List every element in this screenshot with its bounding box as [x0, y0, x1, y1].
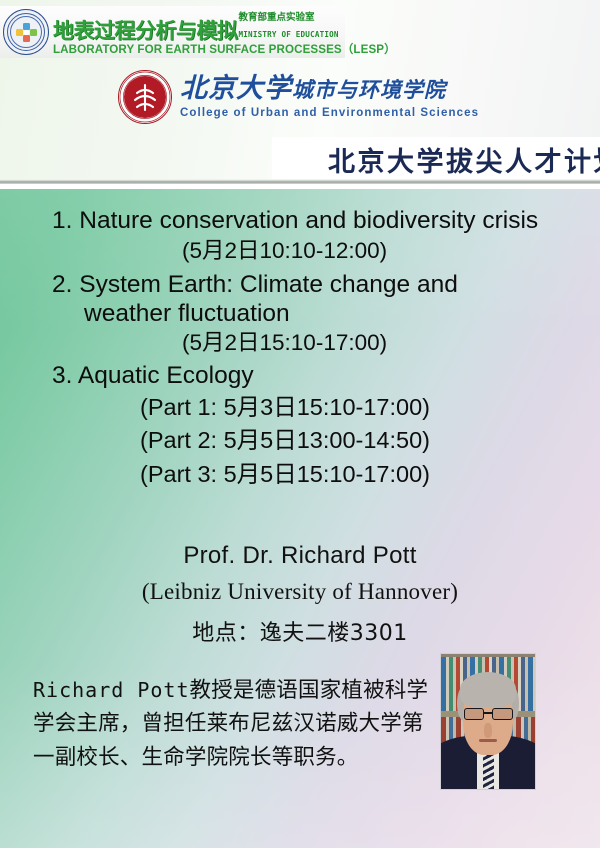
speaker-biography: Richard Pott教授是德语国家植被科学学会主席，曾担任莱布尼兹汉诺威大学… — [33, 674, 433, 774]
lecture-item: 2. System Earth: Climate change and weat… — [0, 271, 600, 358]
lecture-item: 3. Aquatic Ecology (Part 1: 5月3日15:10-17… — [0, 362, 600, 491]
lesp-moe-chinese: 教育部重点实验室 — [239, 12, 315, 23]
lecture-time: (5月2日10:10-12:00) — [182, 236, 600, 265]
lesp-logo-band: 地表过程分析与模拟 教育部重点实验室 MINISTRY OF EDUCATION… — [0, 6, 345, 58]
college-chinese-name: 北京大学城市与环境学院 — [180, 75, 479, 103]
lecture-number: 2. — [52, 271, 72, 298]
lecture-title: Nature conservation and biodiversity cri… — [79, 207, 538, 234]
poster-header: 地表过程分析与模拟 教育部重点实验室 MINISTRY OF EDUCATION… — [0, 0, 600, 184]
poster-canvas: 地表过程分析与模拟 教育部重点实验室 MINISTRY OF EDUCATION… — [0, 0, 600, 848]
lecture-title-line: 2. System Earth: Climate change and — [52, 271, 600, 300]
speaker-name: Prof. Dr. Richard Pott — [0, 542, 600, 570]
venue-label: 地点：逸夫二楼3301 — [0, 615, 600, 647]
lecture-title-line: 1. Nature conservation and biodiversity … — [52, 207, 600, 236]
program-title-bar: 北京大学拔尖人才计划 — [272, 137, 600, 179]
speaker-photo — [440, 653, 536, 790]
lecture-time: (5月2日15:10-17:00) — [182, 328, 600, 357]
college-chinese-name-large: 北京大学 — [180, 73, 292, 104]
biography-name: Richard Pott — [33, 678, 190, 702]
lecture-title-continuation: weather fluctuation — [84, 300, 600, 329]
lesp-chinese-title: 地表过程分析与模拟 — [53, 21, 238, 42]
speaker-block: Prof. Dr. Richard Pott (Leibniz Universi… — [0, 542, 600, 647]
peking-university-seal-icon — [118, 70, 172, 124]
poster-body: 1. Nature conservation and biodiversity … — [0, 189, 600, 848]
lesp-seal-icon — [3, 9, 49, 55]
lecture-title-line: 3. Aquatic Ecology — [52, 362, 600, 391]
college-english-name: College of Urban and Environmental Scien… — [180, 107, 479, 119]
program-title: 北京大学拔尖人才计划 — [328, 140, 600, 179]
lesp-moe-english: MINISTRY OF EDUCATION — [239, 30, 339, 39]
lecture-title: System Earth: Climate change and — [79, 271, 458, 298]
lecture-part: (Part 3: 5月5日15:10-17:00) — [140, 458, 600, 491]
eyeglasses-icon — [464, 708, 514, 720]
lecture-title: Aquatic Ecology — [78, 362, 254, 389]
lecture-list: 1. Nature conservation and biodiversity … — [0, 207, 600, 491]
lesp-english-title: LABORATORY FOR EARTH SURFACE PROCESSES（L… — [53, 44, 396, 56]
lecture-item: 1. Nature conservation and biodiversity … — [0, 207, 600, 265]
lecture-number: 1. — [52, 207, 72, 234]
lecture-part: (Part 2: 5月5日13:00-14:50) — [140, 424, 600, 457]
lecture-number: 3. — [52, 362, 72, 389]
college-chinese-name-small: 城市与环境学院 — [292, 78, 446, 102]
lecture-part: (Part 1: 5月3日15:10-17:00) — [140, 391, 600, 424]
speaker-affiliation: (Leibniz University of Hannover) — [0, 579, 600, 605]
college-logo: 北京大学城市与环境学院 College of Urban and Environ… — [118, 70, 479, 124]
